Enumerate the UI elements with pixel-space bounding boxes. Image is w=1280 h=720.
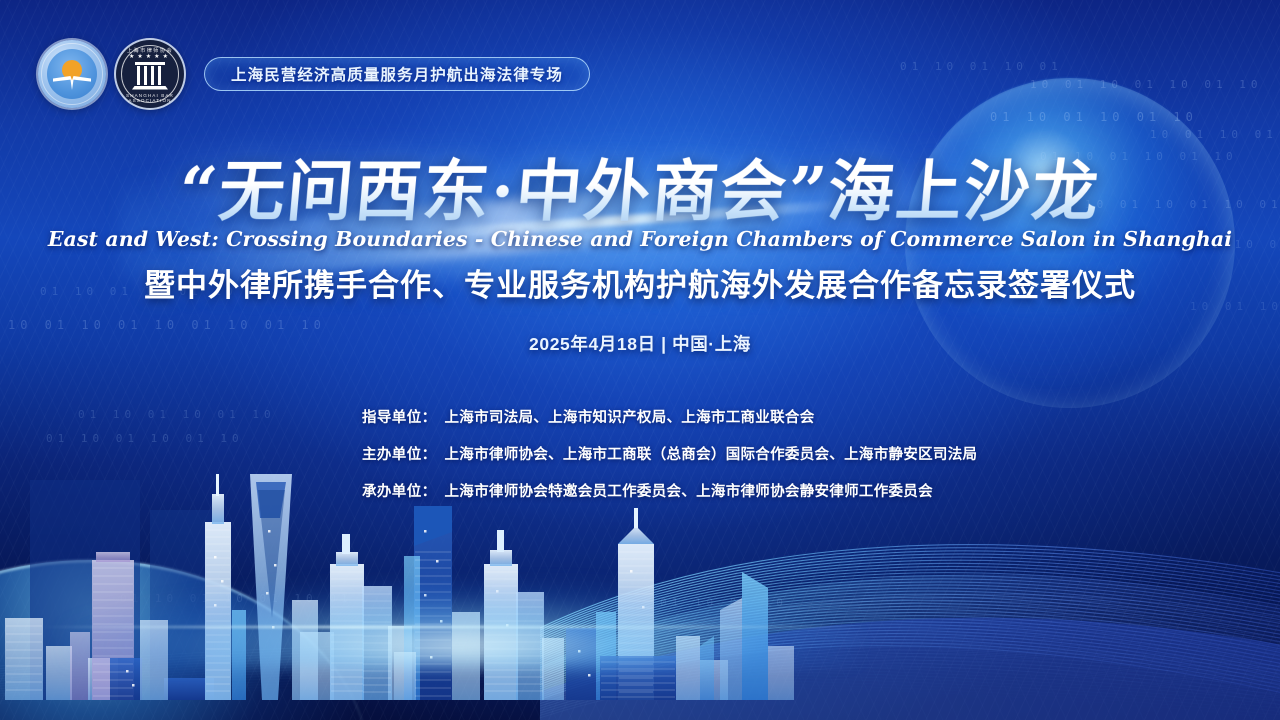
organizer-list: 指导单位： 上海市司法局、上海市知识产权局、上海市工商业联合会 主办单位： 上海…	[362, 406, 977, 517]
pillar-base	[132, 86, 168, 90]
organizer-label: 主办单位：	[362, 443, 437, 464]
chinese-subtitle: 暨中外律所携手合作、专业服务机构护航海外发展合作备忘录签署仪式	[0, 260, 1280, 305]
event-date-location: 2025年4月18日 | 中国·上海	[0, 331, 1280, 356]
organizer-value: 上海市司法局、上海市知识产权局、上海市工商业联合会	[445, 406, 815, 427]
binary-code-row: 01 10 01 10 01 10	[990, 110, 1198, 124]
organizer-label: 指导单位：	[362, 406, 437, 427]
header-bar: 上海市律师协会 ★★★★★ SHANGHAI BAR ASSOCIATION 上…	[38, 40, 590, 108]
organizer-row: 主办单位： 上海市律师协会、上海市工商联（总商会）国际合作委员会、上海市静安区司…	[362, 443, 977, 464]
campaign-badge: 上海民营经济高质量服务月护航出海法律专场	[204, 57, 590, 91]
binary-code-row: 10 01 10 01 10 01 10	[1030, 78, 1262, 91]
binary-code-row: 01 10 01 10 01 10	[46, 432, 244, 445]
organizer-value: 上海市律师协会、上海市工商联（总商会）国际合作委员会、上海市静安区司法局	[445, 443, 978, 464]
organizer-row: 承办单位： 上海市律师协会特邀会员工作委员会、上海市律师协会静安律师工作委员会	[362, 480, 977, 501]
emblem-bottom-text: SHANGHAI BAR ASSOCIATION	[116, 93, 184, 103]
english-subtitle: East and West: Crossing Boundaries - Chi…	[0, 227, 1280, 251]
binary-code-row: 01 10 01 10 01	[900, 60, 1063, 73]
stars-icon: ★★★★★	[116, 53, 184, 60]
pillar-cap	[135, 62, 165, 65]
organizer-value: 上海市律师协会特邀会员工作委员会、上海市律师协会静安律师工作委员会	[445, 480, 933, 501]
organizer-label: 承办单位：	[362, 480, 437, 501]
page-title: “无问西东·中外商会”海上沙龙	[0, 138, 1280, 234]
binary-code-row: 10 01 10 01 10 01 10 01 10	[8, 318, 326, 332]
shanghai-bar-association-emblem-icon: 上海市律师协会 ★★★★★ SHANGHAI BAR ASSOCIATION	[116, 40, 184, 108]
emblem-inner-disc	[47, 49, 97, 99]
poster-canvas: 01 10 01 10 01 10 0110 01 10 01 10 01 10…	[0, 0, 1280, 720]
organizer-row: 指导单位： 上海市司法局、上海市知识产权局、上海市工商业联合会	[362, 406, 977, 427]
binary-code-row: 01 10 01 10 01 10	[78, 408, 276, 421]
courthouse-pillars-icon	[135, 64, 165, 90]
shanghai-justice-emblem-icon	[38, 40, 106, 108]
